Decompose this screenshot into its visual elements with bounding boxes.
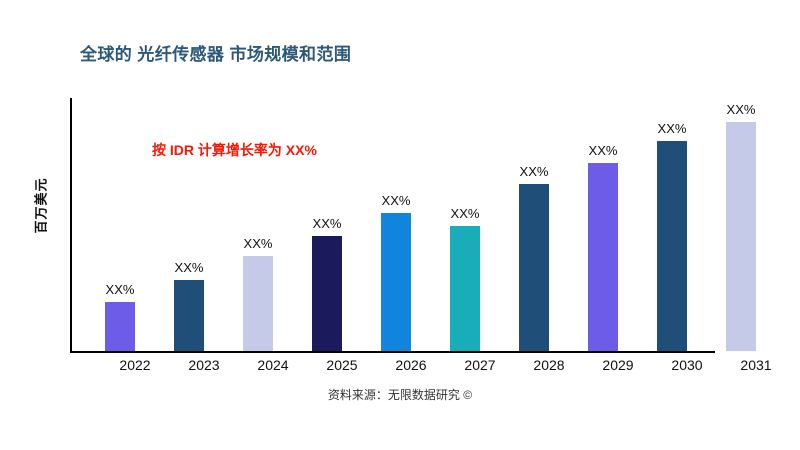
- chart-figure: 全球的 光纤传感器 市场规模和范围 百万美元 XX%XX%XX%XX%XX%XX…: [0, 0, 800, 450]
- x-tick-label: 2027: [450, 357, 510, 373]
- bar-value-label: XX%: [451, 206, 480, 221]
- x-tick-label: 2023: [174, 357, 234, 373]
- x-tick-label: 2024: [243, 357, 303, 373]
- x-axis-tick-labels: 2022202320242025202620272028202920302031: [70, 357, 800, 379]
- bar[interactable]: [243, 256, 273, 351]
- x-tick-label: 2028: [519, 357, 579, 373]
- bars-layer: XX%XX%XX%XX%XX%XX%XX%XX%XX%XX%: [70, 98, 800, 351]
- bar-value-label: XX%: [175, 260, 204, 275]
- x-tick-label: 2022: [105, 357, 165, 373]
- source-note: 资料来源：无限数据研究 ©: [0, 386, 800, 403]
- chart-title: 全球的 光纤传感器 市场规模和范围: [80, 40, 351, 65]
- y-axis-title: 百万美元: [31, 146, 50, 266]
- bar[interactable]: [450, 226, 480, 351]
- x-tick-label: 2029: [588, 357, 648, 373]
- bar-value-label: XX%: [520, 164, 549, 179]
- bar[interactable]: [726, 122, 756, 351]
- bar-value-label: XX%: [382, 193, 411, 208]
- bar[interactable]: [105, 302, 135, 351]
- x-tick-label: 2030: [657, 357, 717, 373]
- bar-value-label: XX%: [244, 236, 273, 251]
- bar-value-label: XX%: [658, 121, 687, 136]
- bar[interactable]: [312, 236, 342, 351]
- bar-value-label: XX%: [727, 102, 756, 117]
- bar-value-label: XX%: [313, 216, 342, 231]
- bar-value-label: XX%: [589, 143, 618, 158]
- cagr-annotation: 按 IDR 计算增长率为 XX%: [152, 140, 317, 160]
- bar[interactable]: [657, 141, 687, 351]
- bar[interactable]: [381, 213, 411, 351]
- x-tick-label: 2026: [381, 357, 441, 373]
- bar[interactable]: [519, 184, 549, 351]
- x-tick-label: 2025: [312, 357, 372, 373]
- bar[interactable]: [174, 280, 204, 351]
- x-tick-label: 2031: [726, 357, 786, 373]
- bar-value-label: XX%: [106, 282, 135, 297]
- x-axis-line: [70, 351, 715, 353]
- bar[interactable]: [588, 163, 618, 352]
